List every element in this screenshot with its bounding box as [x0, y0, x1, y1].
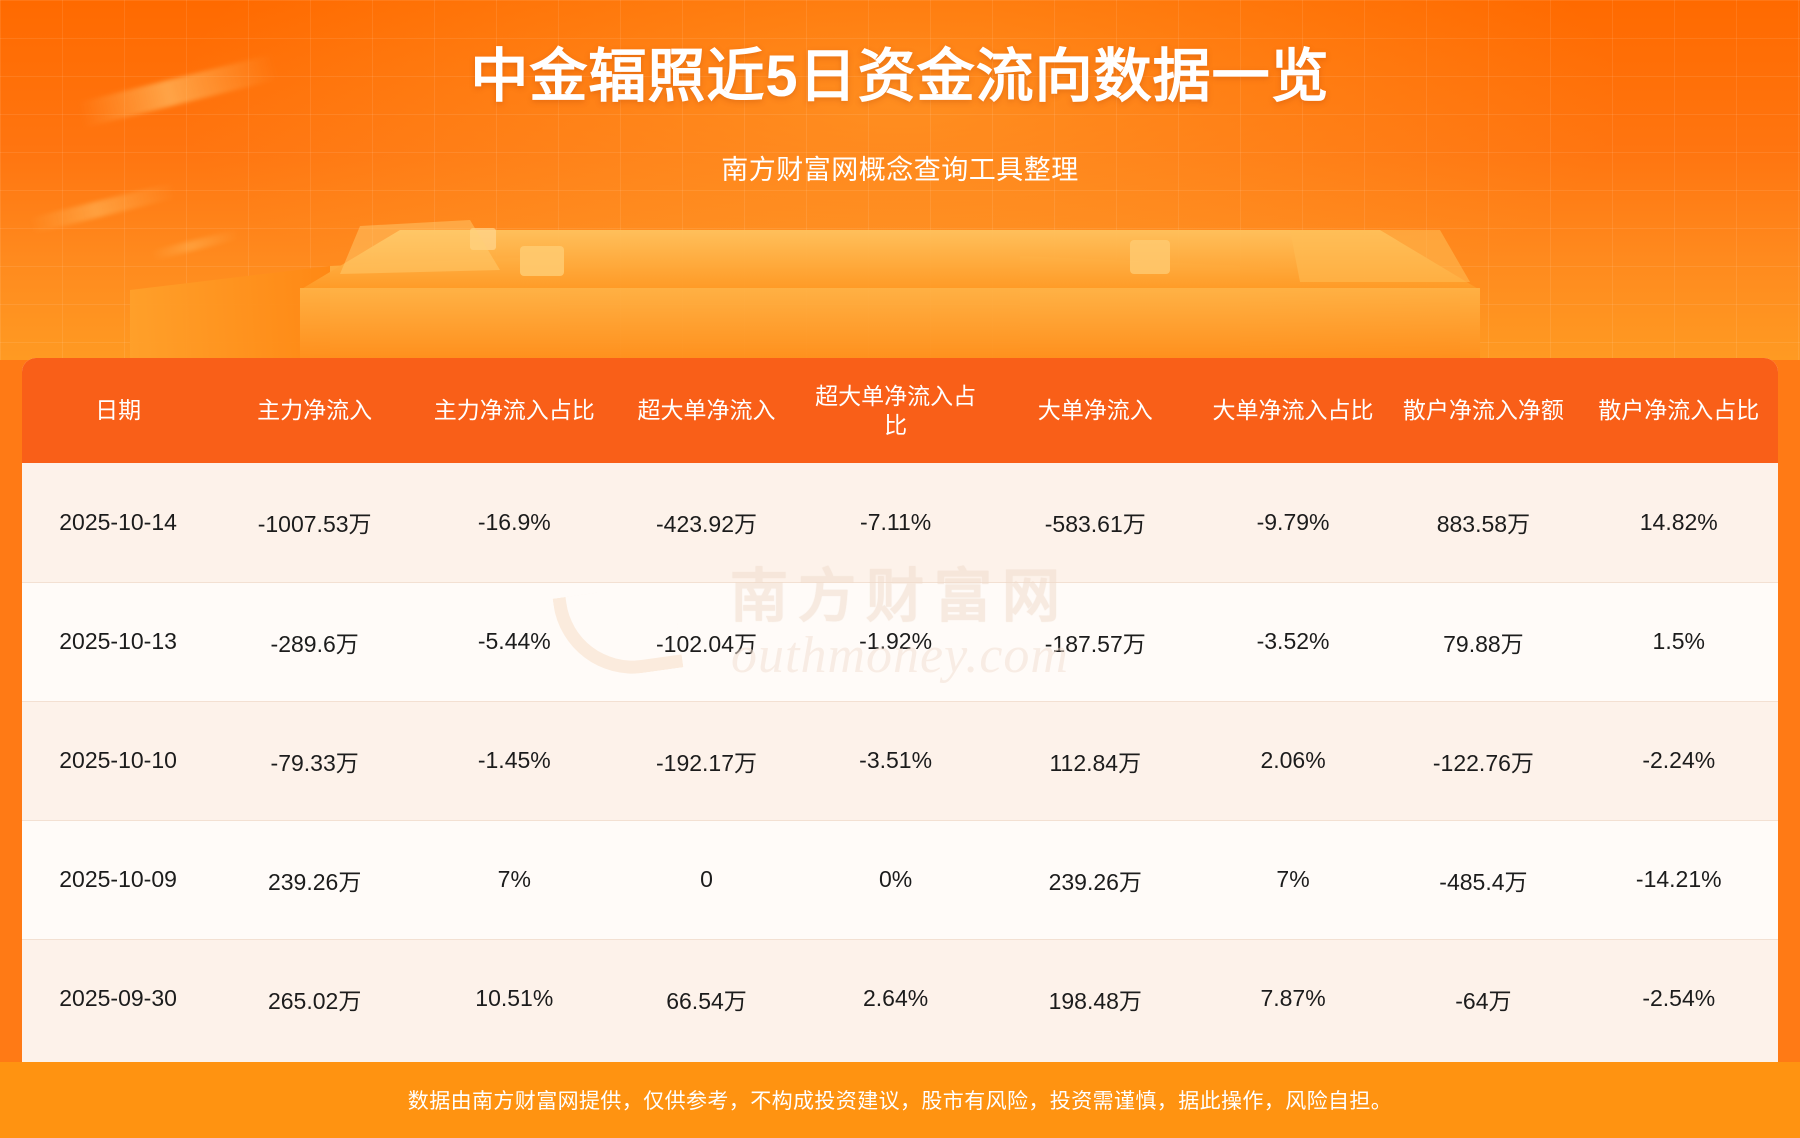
cell-lg-net: 239.26万	[992, 820, 1199, 939]
cell-main-net: 239.26万	[214, 820, 415, 939]
footer-disclaimer-text: 数据由南方财富网提供，仅供参考，不构成投资建议，股市有风险，投资需谨慎，据此操作…	[408, 1085, 1392, 1115]
podium-svg	[0, 170, 1800, 360]
table-row: 2025-10-14 -1007.53万 -16.9% -423.92万 -7.…	[22, 463, 1778, 582]
cell-xl-pct: 0%	[800, 820, 992, 939]
cell-xl-net: -423.92万	[614, 463, 800, 582]
light-streak-icon	[28, 182, 177, 234]
cell-main-pct: -1.45%	[415, 701, 613, 820]
cell-main-net: -289.6万	[214, 582, 415, 701]
column-header-lg-pct[interactable]: 大单净流入占比	[1199, 358, 1387, 463]
column-header-retail-pct[interactable]: 散户净流入占比	[1580, 358, 1779, 463]
cell-date: 2025-10-14	[22, 463, 214, 582]
cell-xl-pct: -7.11%	[800, 463, 992, 582]
cell-xl-net: -102.04万	[614, 582, 800, 701]
cell-date: 2025-10-10	[22, 701, 214, 820]
cell-retail-net: -64万	[1387, 939, 1579, 1058]
cell-lg-net: -583.61万	[992, 463, 1199, 582]
hero-banner: 中金辐照近5日资金流向数据一览 南方财富网概念查询工具整理	[0, 0, 1800, 360]
cell-retail-net: 883.58万	[1387, 463, 1579, 582]
column-header-lg-net[interactable]: 大单净流入	[992, 358, 1199, 463]
cell-xl-net: 66.54万	[614, 939, 800, 1058]
cell-main-pct: -16.9%	[415, 463, 613, 582]
podium-illustration	[0, 170, 1800, 360]
cell-main-net: -1007.53万	[214, 463, 415, 582]
table-row: 2025-10-10 -79.33万 -1.45% -192.17万 -3.51…	[22, 701, 1778, 820]
column-header-date[interactable]: 日期	[22, 358, 214, 463]
data-card: 日期 主力净流入 主力净流入占比 超大单净流入 超大单净流入占比 大单净流入 大…	[22, 358, 1778, 1058]
cell-lg-pct: 7%	[1199, 820, 1387, 939]
column-header-main-pct[interactable]: 主力净流入占比	[415, 358, 613, 463]
column-header-xl-net[interactable]: 超大单净流入	[614, 358, 800, 463]
cell-lg-pct: -3.52%	[1199, 582, 1387, 701]
column-header-retail-net[interactable]: 散户净流入净额	[1387, 358, 1579, 463]
cell-main-pct: 7%	[415, 820, 613, 939]
cell-xl-pct: -1.92%	[800, 582, 992, 701]
page-subtitle: 南方财富网概念查询工具整理	[0, 148, 1800, 187]
cell-main-net: 265.02万	[214, 939, 415, 1058]
table-row: 2025-09-30 265.02万 10.51% 66.54万 2.64% 1…	[22, 939, 1778, 1058]
cell-lg-net: 112.84万	[992, 701, 1199, 820]
cell-retail-pct: 14.82%	[1580, 463, 1779, 582]
table-body: 2025-10-14 -1007.53万 -16.9% -423.92万 -7.…	[22, 463, 1778, 1058]
cell-lg-pct: 2.06%	[1199, 701, 1387, 820]
cell-xl-pct: 2.64%	[800, 939, 992, 1058]
cell-lg-pct: 7.87%	[1199, 939, 1387, 1058]
cell-retail-pct: -2.54%	[1580, 939, 1779, 1058]
cell-retail-net: -122.76万	[1387, 701, 1579, 820]
cell-date: 2025-09-30	[22, 939, 214, 1058]
cell-lg-net: 198.48万	[992, 939, 1199, 1058]
fund-flow-table: 日期 主力净流入 主力净流入占比 超大单净流入 超大单净流入占比 大单净流入 大…	[22, 358, 1778, 1058]
footer-disclaimer-bar: 数据由南方财富网提供，仅供参考，不构成投资建议，股市有风险，投资需谨慎，据此操作…	[0, 1062, 1800, 1138]
column-header-main-net[interactable]: 主力净流入	[214, 358, 415, 463]
cell-main-pct: 10.51%	[415, 939, 613, 1058]
cell-xl-net: -192.17万	[614, 701, 800, 820]
cell-retail-pct: 1.5%	[1580, 582, 1779, 701]
table-header-row: 日期 主力净流入 主力净流入占比 超大单净流入 超大单净流入占比 大单净流入 大…	[22, 358, 1778, 463]
cell-retail-net: 79.88万	[1387, 582, 1579, 701]
light-streak-icon	[150, 229, 240, 260]
cell-xl-net: 0	[614, 820, 800, 939]
cell-main-net: -79.33万	[214, 701, 415, 820]
cell-lg-pct: -9.79%	[1199, 463, 1387, 582]
page-title: 中金辐照近5日资金流向数据一览	[0, 44, 1800, 111]
cell-retail-pct: -14.21%	[1580, 820, 1779, 939]
cell-date: 2025-10-09	[22, 820, 214, 939]
cell-main-pct: -5.44%	[415, 582, 613, 701]
table-row: 2025-10-09 239.26万 7% 0 0% 239.26万 7% -4…	[22, 820, 1778, 939]
cell-xl-pct: -3.51%	[800, 701, 992, 820]
column-header-xl-pct[interactable]: 超大单净流入占比	[800, 358, 992, 463]
cell-date: 2025-10-13	[22, 582, 214, 701]
table-row: 2025-10-13 -289.6万 -5.44% -102.04万 -1.92…	[22, 582, 1778, 701]
cell-retail-pct: -2.24%	[1580, 701, 1779, 820]
cell-retail-net: -485.4万	[1387, 820, 1579, 939]
cell-lg-net: -187.57万	[992, 582, 1199, 701]
